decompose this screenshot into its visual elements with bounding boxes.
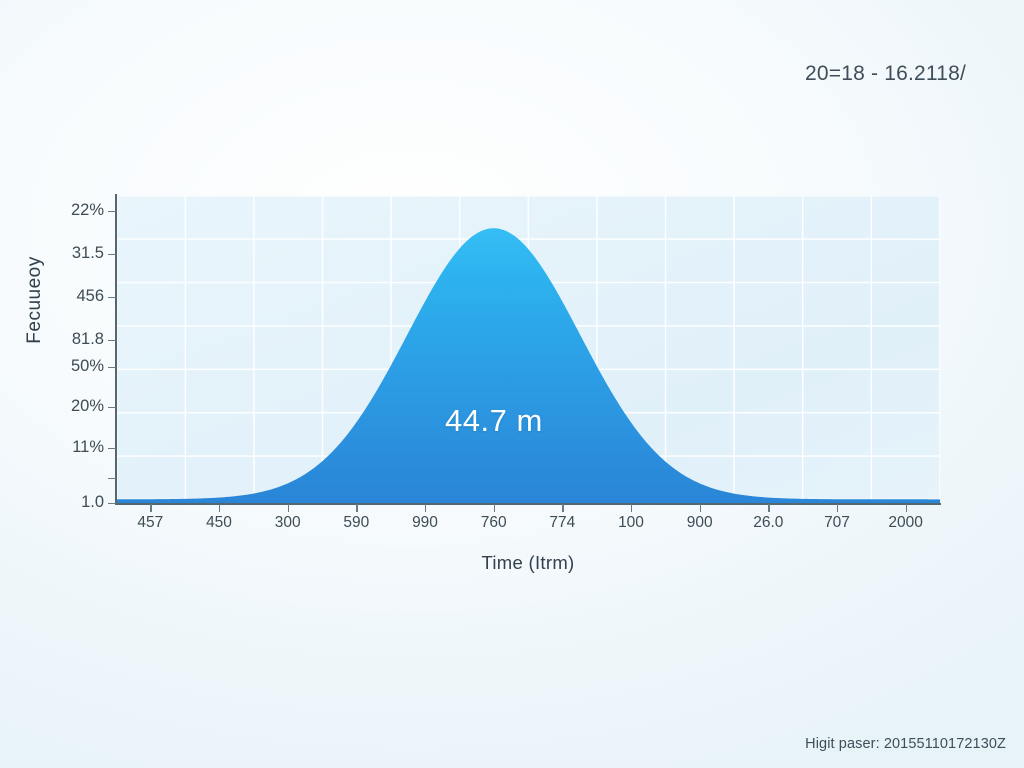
y-tick-mark bbox=[108, 367, 116, 368]
x-tick-label: 760 bbox=[481, 514, 507, 532]
x-tick-label: 2000 bbox=[888, 514, 922, 532]
x-tick-mark bbox=[837, 504, 838, 512]
y-tick-mark bbox=[108, 254, 116, 255]
x-tick-label: 450 bbox=[206, 514, 232, 532]
x-tick-label: 590 bbox=[343, 514, 369, 532]
y-tick-mark bbox=[108, 407, 116, 408]
y-tick-label: 81.8 bbox=[0, 330, 104, 349]
y-tick-label: 31.5 bbox=[0, 244, 104, 263]
x-tick-label: 707 bbox=[824, 514, 850, 532]
area-curve bbox=[116, 228, 940, 503]
x-tick-label: 100 bbox=[618, 514, 644, 532]
plot-area bbox=[116, 196, 940, 503]
x-tick-mark bbox=[906, 504, 907, 512]
y-axis-title: Fecuueoy bbox=[24, 256, 46, 343]
y-tick-mark bbox=[108, 297, 116, 298]
y-tick-mark bbox=[108, 478, 116, 479]
x-tick-label: 300 bbox=[275, 514, 301, 532]
x-tick-mark bbox=[494, 504, 495, 512]
top-right-annotation: 20=18 - 16.2118/ bbox=[805, 62, 966, 86]
curve-value-label: 44.7 m bbox=[445, 403, 543, 439]
distribution-chart: 44.7 m 22%31.545681.850%20%11%1.0 457450… bbox=[0, 0, 1024, 768]
y-axis-line bbox=[115, 194, 117, 505]
x-tick-label: 26.0 bbox=[753, 514, 783, 532]
y-tick-label: 50% bbox=[0, 357, 104, 376]
x-tick-mark bbox=[219, 504, 220, 512]
y-tick-label: 1.0 bbox=[0, 493, 104, 512]
footer-annotation: Higit paser: 20155110172130Z bbox=[805, 736, 1006, 752]
x-tick-mark bbox=[288, 504, 289, 512]
x-tick-mark bbox=[562, 504, 563, 512]
y-tick-mark bbox=[108, 211, 116, 212]
curve-svg bbox=[116, 196, 940, 503]
x-axis-title: Time (Itrm) bbox=[116, 552, 940, 574]
y-tick-label: 456 bbox=[0, 287, 104, 306]
y-tick-mark bbox=[108, 340, 116, 341]
x-tick-mark bbox=[768, 504, 769, 512]
x-tick-label: 900 bbox=[687, 514, 713, 532]
x-tick-mark bbox=[356, 504, 357, 512]
x-axis-line bbox=[115, 503, 941, 505]
y-tick-mark bbox=[108, 448, 116, 449]
x-tick-mark bbox=[700, 504, 701, 512]
y-tick-mark bbox=[108, 503, 116, 504]
x-tick-label: 990 bbox=[412, 514, 438, 532]
x-tick-mark bbox=[631, 504, 632, 512]
y-tick-label: 22% bbox=[0, 201, 104, 220]
y-tick-label: 11% bbox=[0, 438, 104, 457]
x-tick-label: 774 bbox=[549, 514, 575, 532]
x-tick-label: 457 bbox=[137, 514, 163, 532]
x-tick-mark bbox=[150, 504, 151, 512]
y-tick-label: 20% bbox=[0, 397, 104, 416]
x-tick-mark bbox=[425, 504, 426, 512]
